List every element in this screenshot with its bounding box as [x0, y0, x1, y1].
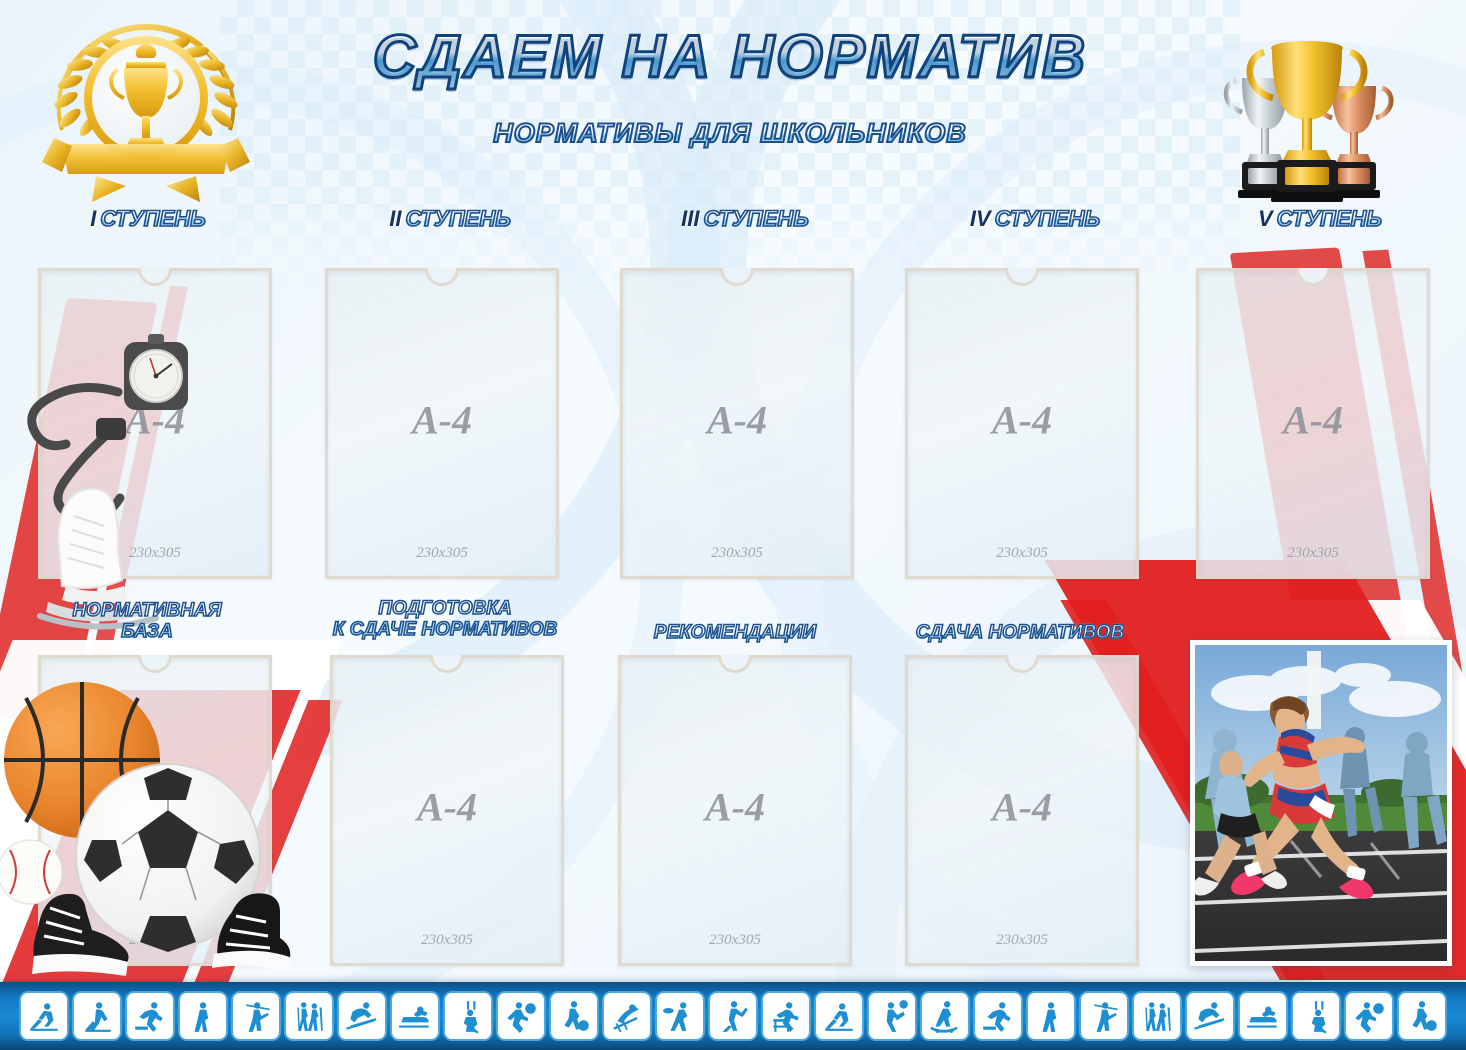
nordic-walking-icon	[1139, 998, 1175, 1034]
bobsleigh-icon	[1245, 998, 1281, 1034]
pocket-format-label: А-4	[333, 783, 561, 830]
section-label-line1: НОРМАТИВНАЯ	[2, 600, 292, 621]
runner-icon	[132, 998, 168, 1034]
sport-icon-tile[interactable]	[72, 991, 122, 1041]
sport-icon-tile[interactable]	[1397, 991, 1447, 1041]
hockey-icon	[821, 998, 857, 1034]
section-label-recommendations: РЕКОМЕНДАЦИИ	[620, 622, 850, 643]
pocket-notch	[718, 655, 752, 673]
document-pocket-recommendations[interactable]: А-4 230x305	[618, 655, 852, 966]
jogging-icon	[185, 998, 221, 1034]
soccer-icon	[1404, 998, 1440, 1034]
page-subtitle: НОРМАТИВЫ ДЛЯ ШКОЛЬНИКОВ	[350, 118, 1110, 149]
stage-label-2: IIСТУПЕНЬ	[320, 206, 580, 232]
figure-skating-icon	[79, 998, 115, 1034]
sport-icon-bar	[0, 982, 1466, 1050]
javelin-icon	[238, 998, 274, 1034]
stage-label-3: IIIСТУПЕНЬ	[615, 206, 875, 232]
stage-label-4: IVСТУПЕНЬ	[905, 206, 1165, 232]
downhill-ski-icon	[1192, 998, 1228, 1034]
hockey-icon	[26, 998, 62, 1034]
stage-label-5: VСТУПЕНЬ	[1190, 206, 1450, 232]
pocket-format-label: А-4	[1199, 396, 1427, 443]
stage-label-1: IСТУПЕНЬ	[18, 206, 278, 232]
document-pocket-stage-5[interactable]: А-4 230x305	[1196, 268, 1430, 579]
stage-word: СТУПЕНЬ	[1277, 206, 1382, 231]
pocket-notch	[1005, 655, 1039, 673]
pocket-size-label: 230x305	[908, 545, 1136, 562]
sport-icon-tile[interactable]	[920, 991, 970, 1041]
downhill-ski-icon	[344, 998, 380, 1034]
sport-icon-tile[interactable]	[231, 991, 281, 1041]
trophy-emblem-icon	[26, 18, 266, 208]
bungee-icon	[450, 998, 486, 1034]
stage-word: СТУПЕНЬ	[100, 206, 205, 231]
pocket-format-label: А-4	[908, 783, 1136, 830]
stage-word: СТУПЕНЬ	[703, 206, 808, 231]
pocket-size-label: 230x305	[623, 545, 851, 562]
document-pocket-stage-4[interactable]: А-4 230x305	[905, 268, 1139, 579]
sport-icon-tile[interactable]	[814, 991, 864, 1041]
javelin-icon	[1086, 998, 1122, 1034]
sport-icon-tile[interactable]	[178, 991, 228, 1041]
sport-icon-tile[interactable]	[1185, 991, 1235, 1041]
pocket-size-label: 230x305	[333, 932, 561, 949]
section-label-line2: К СДАЧЕ НОРМАТИВОВ	[330, 619, 560, 640]
document-pocket-stage-3[interactable]: А-4 230x305	[620, 268, 854, 579]
sprinter-photo	[1190, 640, 1452, 966]
pocket-notch	[1296, 268, 1330, 286]
pocket-format-label: А-4	[623, 396, 851, 443]
sport-icon-tile[interactable]	[1291, 991, 1341, 1041]
sport-icon-tile[interactable]	[284, 991, 334, 1041]
gymnastics-icon	[715, 998, 751, 1034]
document-pocket-preparation[interactable]: А-4 230x305	[330, 655, 564, 966]
three-trophies-icon	[1192, 16, 1422, 208]
sport-icon-tile[interactable]	[125, 991, 175, 1041]
pocket-notch	[138, 655, 172, 673]
section-label-line1: ПОДГОТОВКА	[330, 598, 560, 619]
pocket-notch	[425, 268, 459, 286]
sport-icon-tile[interactable]	[1238, 991, 1288, 1041]
basketball-icon	[1351, 998, 1387, 1034]
luge-icon	[609, 998, 645, 1034]
bungee-icon	[1298, 998, 1334, 1034]
pocket-notch	[1005, 268, 1039, 286]
sport-icon-tile[interactable]	[1344, 991, 1394, 1041]
document-pocket-normative-base[interactable]: А-4 230x305	[38, 655, 272, 966]
stage-numeral: III	[681, 206, 699, 231]
pocket-size-label: 230x305	[41, 932, 269, 949]
information-stand: СДАЕМ НА НОРМАТИВ НОРМАТИВЫ ДЛЯ ШКОЛЬНИК…	[0, 0, 1466, 1050]
section-label-line2: БАЗА	[2, 621, 292, 642]
stage-numeral: II	[389, 206, 401, 231]
hurdles-icon	[768, 998, 804, 1034]
sport-icon-tile[interactable]	[602, 991, 652, 1041]
pocket-size-label: 230x305	[328, 545, 556, 562]
document-pocket-passing-standards[interactable]: А-4 230x305	[905, 655, 1139, 966]
pocket-format-label: А-4	[908, 396, 1136, 443]
pocket-size-label: 230x305	[621, 932, 849, 949]
document-pocket-stage-2[interactable]: А-4 230x305	[325, 268, 559, 579]
sport-icon-tile[interactable]	[1132, 991, 1182, 1041]
section-label-normative-base: НОРМАТИВНАЯ БАЗА	[2, 600, 292, 643]
stage-word: СТУПЕНЬ	[995, 206, 1100, 231]
sport-icon-tile[interactable]	[655, 991, 705, 1041]
pocket-size-label: 230x305	[908, 932, 1136, 949]
pocket-format-label: А-4	[41, 783, 269, 830]
page-title: СДАЕМ НА НОРМАТИВ	[350, 22, 1110, 91]
sport-icon-tile[interactable]	[390, 991, 440, 1041]
pocket-format-label: А-4	[41, 396, 269, 443]
sport-icon-tile[interactable]	[443, 991, 493, 1041]
sport-icon-tile[interactable]	[337, 991, 387, 1041]
section-label-preparation: ПОДГОТОВКА К СДАЧЕ НОРМАТИВОВ	[330, 598, 560, 641]
discus-icon	[662, 998, 698, 1034]
sport-icon-tile[interactable]	[496, 991, 546, 1041]
section-label-line1: РЕКОМЕНДАЦИИ	[620, 622, 850, 643]
sport-icon-tile[interactable]	[19, 991, 69, 1041]
sport-icon-tile[interactable]	[867, 991, 917, 1041]
nordic-walking-icon	[291, 998, 327, 1034]
stage-numeral: IV	[970, 206, 991, 231]
basketball-icon	[503, 998, 539, 1034]
stage-numeral: V	[1258, 206, 1273, 231]
pocket-size-label: 230x305	[1199, 545, 1427, 562]
sport-icon-tile[interactable]	[761, 991, 811, 1041]
sport-icon-tile[interactable]	[973, 991, 1023, 1041]
pocket-format-label: А-4	[328, 396, 556, 443]
bobsleigh-icon	[397, 998, 433, 1034]
sport-icon-tile[interactable]	[549, 991, 599, 1041]
handball-icon	[874, 998, 910, 1034]
pocket-format-label: А-4	[621, 783, 849, 830]
soccer-icon	[556, 998, 592, 1034]
sport-icon-tile[interactable]	[1026, 991, 1076, 1041]
document-pocket-stage-1[interactable]: А-4 230x305	[38, 268, 272, 579]
pocket-notch	[720, 268, 754, 286]
pocket-notch	[138, 268, 172, 286]
section-label-line1: СДАЧА НОРМАТИВОВ	[900, 622, 1140, 643]
skateboard-icon	[927, 998, 963, 1034]
sport-icon-tile[interactable]	[1079, 991, 1129, 1041]
sport-icon-tile[interactable]	[708, 991, 758, 1041]
runner-icon	[980, 998, 1016, 1034]
section-label-passing-standards: СДАЧА НОРМАТИВОВ	[900, 622, 1140, 643]
stage-numeral: I	[90, 206, 96, 231]
stage-word: СТУПЕНЬ	[405, 206, 510, 231]
jogging-icon	[1033, 998, 1069, 1034]
pocket-size-label: 230x305	[41, 545, 269, 562]
pocket-notch	[430, 655, 464, 673]
